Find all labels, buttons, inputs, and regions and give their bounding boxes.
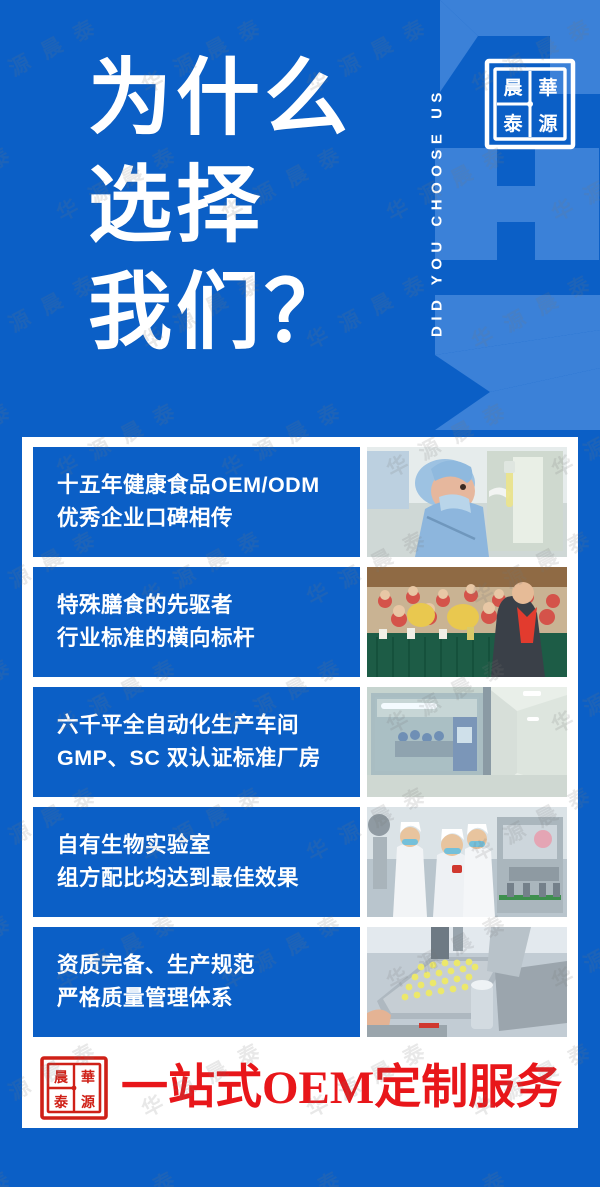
svg-text:晨: 晨 bbox=[503, 77, 523, 99]
watermark-text: 华 源 晨 泰 bbox=[381, 1162, 513, 1187]
workers-on-production-line-photo bbox=[367, 807, 567, 917]
feature-line-5a: 资质完备、生产规范 bbox=[57, 949, 360, 982]
feature-line-3a: 六千平全自动化生产车间 bbox=[57, 709, 360, 742]
watermark-text: 华 源 晨 泰 bbox=[546, 1162, 600, 1187]
title-line-3: 我们？ bbox=[88, 260, 388, 367]
list-item[interactable]: 特殊膳食的先驱者 行业标准的横向标杆 bbox=[33, 567, 567, 677]
feature-line-1a: 十五年健康食品OEM/ODM bbox=[57, 469, 360, 502]
features-list: 十五年健康食品OEM/ODM 优秀企业口碑相传 bbox=[33, 447, 567, 1047]
page-title: 为什么 选择 我们？ bbox=[88, 46, 388, 367]
feature-line-5b: 严格质量管理体系 bbox=[57, 982, 360, 1015]
svg-text:泰: 泰 bbox=[502, 112, 523, 135]
watermark-text: 华 源 晨 泰 bbox=[0, 650, 18, 739]
feature-line-3b: GMP、SC 双认证标准厂房 bbox=[57, 742, 360, 775]
feature-text-2: 特殊膳食的先驱者 行业标准的横向标杆 bbox=[33, 567, 360, 677]
vertical-english-subtitle: DID YOU CHOOSE US bbox=[424, 12, 450, 412]
svg-text:晨: 晨 bbox=[54, 1070, 69, 1086]
feature-text-5: 资质完备、生产规范 严格质量管理体系 bbox=[33, 927, 360, 1037]
conference-audience-photo bbox=[367, 567, 567, 677]
poster-root: 为什么 选择 我们？ DID YOU CHOOSE US 晨 華 泰 源 bbox=[0, 0, 600, 1187]
features-panel: 十五年健康食品OEM/ODM 优秀企业口碑相传 bbox=[22, 437, 578, 1128]
banner-seal-icon: 晨 華 泰 源 bbox=[39, 1055, 109, 1121]
svg-text:華: 華 bbox=[81, 1069, 95, 1086]
list-item[interactable]: 十五年健康食品OEM/ODM 优秀企业口碑相传 bbox=[33, 447, 567, 557]
feature-line-4b: 组方配比均达到最佳效果 bbox=[57, 862, 360, 895]
watermark-text: 华 源 晨 泰 bbox=[51, 1162, 183, 1187]
feature-line-2b: 行业标准的横向标杆 bbox=[57, 622, 360, 655]
svg-text:華: 華 bbox=[538, 76, 557, 99]
lab-technician-holding-vial-photo bbox=[367, 447, 567, 557]
list-item[interactable]: 六千平全自动化生产车间 GMP、SC 双认证标准厂房 bbox=[33, 687, 567, 797]
watermark-text: 华 源 晨 泰 bbox=[0, 906, 18, 995]
title-line-2: 选择 bbox=[88, 153, 388, 260]
tablet-packaging-machine-photo bbox=[367, 927, 567, 1037]
feature-text-4: 自有生物实验室 组方配比均达到最佳效果 bbox=[33, 807, 360, 917]
feature-text-1: 十五年健康食品OEM/ODM 优秀企业口碑相传 bbox=[33, 447, 360, 557]
feature-line-4a: 自有生物实验室 bbox=[57, 829, 360, 862]
banner-title: 一站式OEM定制服务 bbox=[121, 1062, 562, 1114]
poster-header: 为什么 选择 我们？ DID YOU CHOOSE US 晨 華 泰 源 bbox=[0, 0, 600, 437]
svg-text:泰: 泰 bbox=[53, 1094, 69, 1111]
watermark-text: 华 源 晨 泰 bbox=[216, 1162, 348, 1187]
watermark-text: 华 源 晨 泰 bbox=[0, 1162, 18, 1187]
corner-seal-icon: 晨 華 泰 源 bbox=[482, 56, 578, 152]
title-line-1: 为什么 bbox=[88, 46, 388, 153]
list-item[interactable]: 资质完备、生产规范 严格质量管理体系 bbox=[33, 927, 567, 1037]
feature-line-1b: 优秀企业口碑相传 bbox=[57, 502, 360, 535]
feature-text-3: 六千平全自动化生产车间 GMP、SC 双认证标准厂房 bbox=[33, 687, 360, 797]
bottom-banner[interactable]: 晨 華 泰 源 一站式OEM定制服务 bbox=[33, 1054, 567, 1122]
feature-line-2a: 特殊膳食的先驱者 bbox=[57, 589, 360, 622]
clean-room-corridor-photo bbox=[367, 687, 567, 797]
list-item[interactable]: 自有生物实验室 组方配比均达到最佳效果 bbox=[33, 807, 567, 917]
svg-text:源: 源 bbox=[538, 112, 557, 135]
svg-text:源: 源 bbox=[81, 1094, 95, 1111]
